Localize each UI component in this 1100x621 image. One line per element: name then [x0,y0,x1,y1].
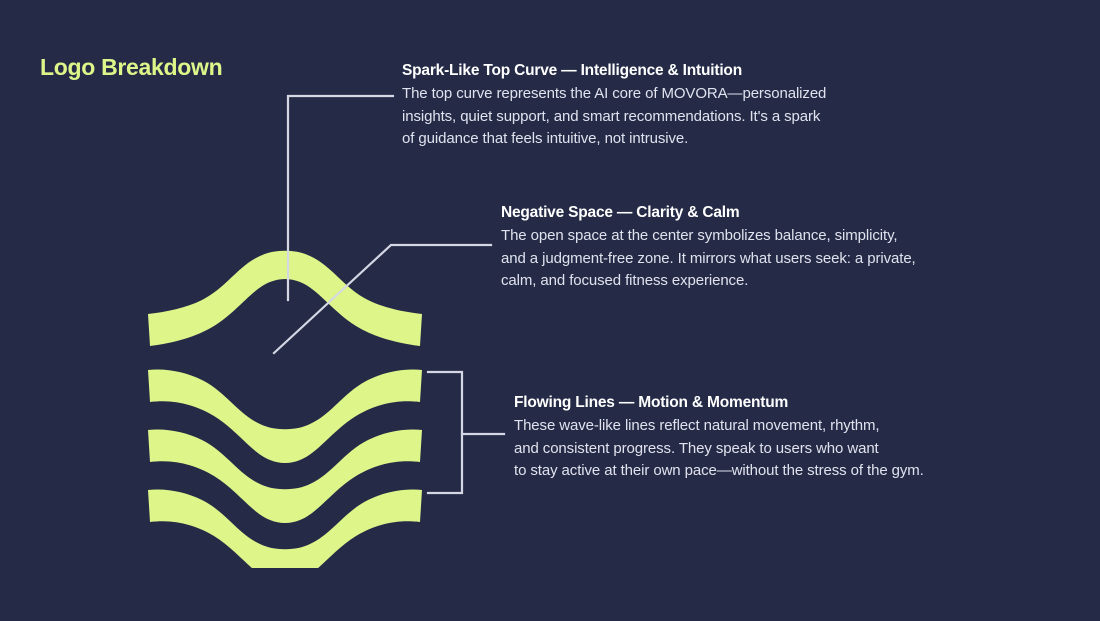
annotation-spark-title: Spark-Like Top Curve — Intelligence & In… [402,62,826,80]
annotation-flowing-lines-line-3: to stay active at their own pace—without… [514,460,924,483]
logo-wave-band-1 [148,251,422,346]
annotation-flowing-lines-body: These wave-like lines reflect natural mo… [514,415,924,483]
annotation-negative-space-line-2: and a judgment-free zone. It mirrors wha… [501,248,916,271]
annotation-spark-line-3: of guidance that feels intuitive, not in… [402,128,826,151]
annotation-spark-body: The top curve represents the AI core of … [402,83,826,151]
annotation-negative-space-title: Negative Space — Clarity & Calm [501,204,916,222]
annotation-negative-space-line-3: calm, and focused fitness experience. [501,270,916,293]
annotation-spark: Spark-Like Top Curve — Intelligence & In… [402,62,826,151]
annotation-flowing-lines-line-2: and consistent progress. They speak to u… [514,438,924,461]
annotation-flowing-lines: Flowing Lines — Motion & Momentum These … [514,394,924,483]
annotation-spark-line-2: insights, quiet support, and smart recom… [402,106,826,129]
connector-lines [428,372,462,493]
annotation-negative-space: Negative Space — Clarity & Calm The open… [501,204,916,293]
logo-breakdown-slide: Logo Breakdown Spark-Like Top Curve — In… [0,0,1100,621]
annotation-spark-line-1: The top curve represents the AI core of … [402,83,826,106]
annotation-negative-space-body: The open space at the center symbolizes … [501,225,916,293]
page-title: Logo Breakdown [40,54,222,81]
logo-waves-svg [140,248,430,568]
logo-mark [140,248,430,568]
annotation-negative-space-line-1: The open space at the center symbolizes … [501,225,916,248]
annotation-flowing-lines-title: Flowing Lines — Motion & Momentum [514,394,924,412]
annotation-flowing-lines-line-1: These wave-like lines reflect natural mo… [514,415,924,438]
